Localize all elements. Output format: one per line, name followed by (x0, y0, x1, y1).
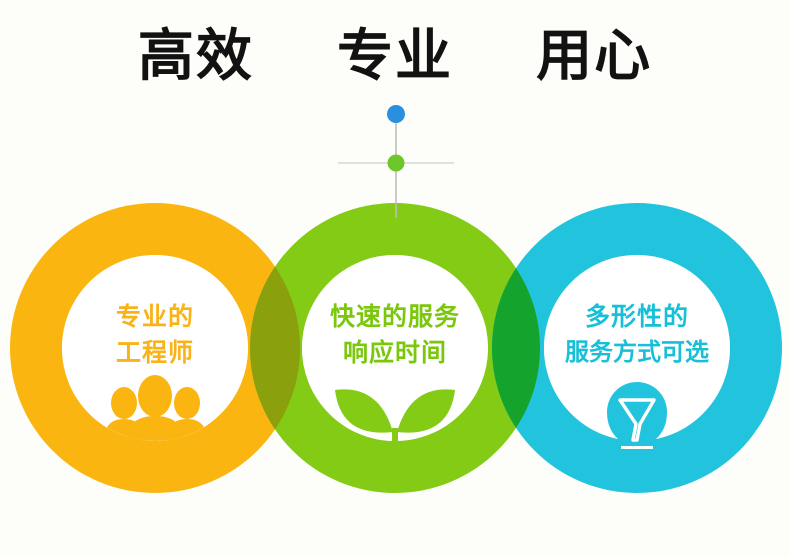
ring-response-inner-disc (302, 255, 488, 441)
venn-rings-group (0, 0, 790, 557)
infographic-canvas: 高效 专业 用心 (0, 0, 790, 557)
